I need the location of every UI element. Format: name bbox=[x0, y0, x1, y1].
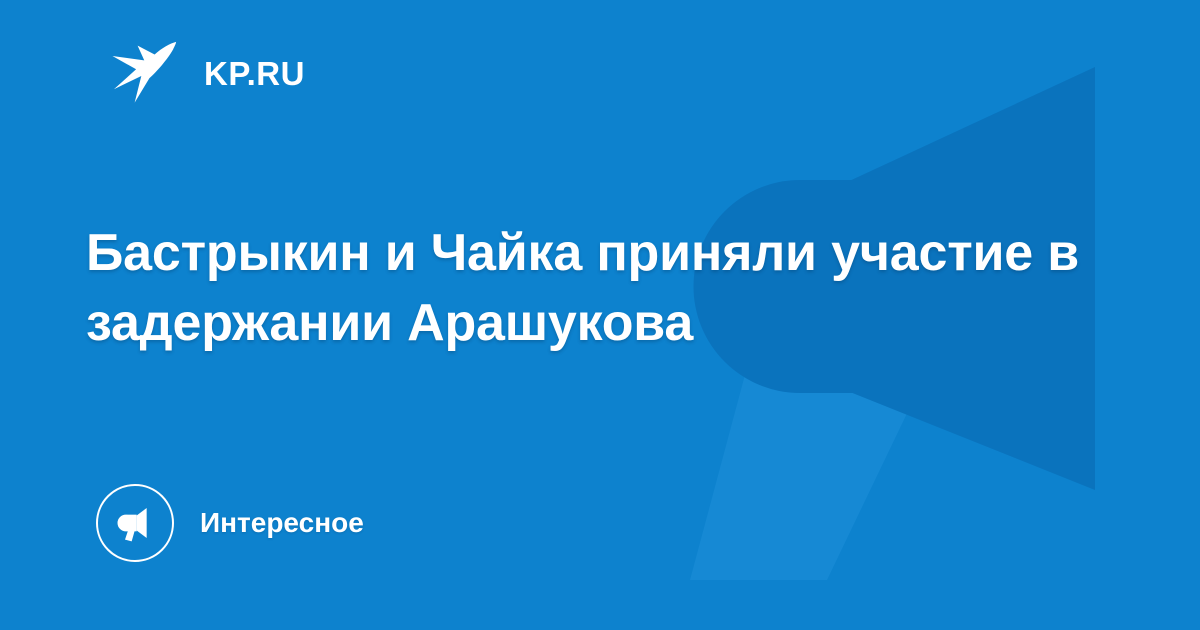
badge-icon-circle bbox=[96, 484, 174, 562]
brand-name: KP.RU bbox=[204, 57, 305, 90]
badge-label: Интересное bbox=[200, 509, 364, 537]
brand-logo[interactable]: KP.RU bbox=[108, 36, 305, 110]
page-title: Бастрыкин и Чайка приняли участие в заде… bbox=[86, 218, 1096, 358]
swallow-bird-icon bbox=[108, 36, 182, 110]
megaphone-icon bbox=[115, 503, 155, 543]
share-card: KP.RU Бастрыкин и Чайка приняли участие … bbox=[0, 0, 1200, 630]
category-badge[interactable]: Интересное bbox=[96, 483, 364, 563]
megaphone-handle-shape bbox=[690, 330, 947, 580]
